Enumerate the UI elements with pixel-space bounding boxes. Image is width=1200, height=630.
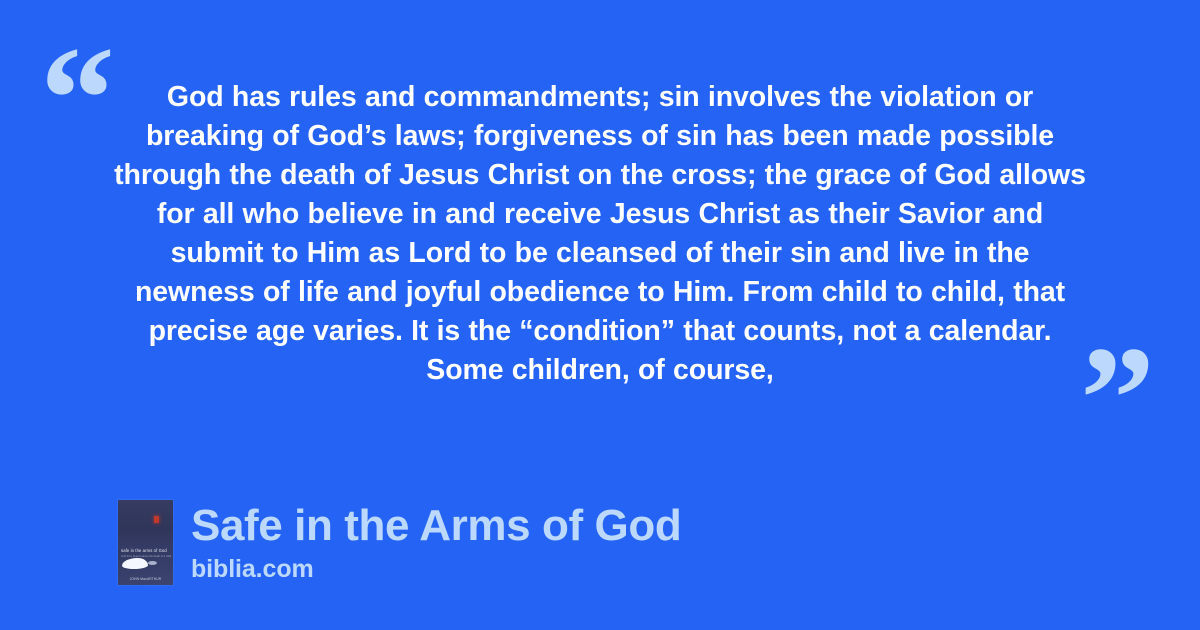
book-title: Safe in the Arms of God	[191, 501, 681, 551]
book-cover-cloud-icon	[122, 558, 148, 569]
quote-block: God has rules and commandments; sin invo…	[110, 78, 1090, 390]
book-cover-red-mark-icon	[154, 516, 159, 523]
book-cover-subtitle: truth from heaven about the death of a c…	[121, 555, 171, 558]
footer-attribution: safe in the arms of God truth from heave…	[118, 500, 681, 585]
book-cover-cloud-small-icon	[148, 561, 157, 565]
book-cover-sky	[118, 500, 173, 549]
quote-text: God has rules and commandments; sin invo…	[110, 78, 1090, 390]
book-cover-title: safe in the arms of God	[121, 548, 171, 553]
closing-quote-icon: ”	[1080, 324, 1155, 474]
book-cover-thumbnail: safe in the arms of God truth from heave…	[118, 500, 173, 585]
book-cover-author: JOHN MacARTHUR	[118, 577, 173, 581]
quote-card: “ God has rules and commandments; sin in…	[0, 0, 1200, 630]
site-name: biblia.com	[191, 554, 681, 584]
opening-quote-icon: “	[40, 24, 115, 174]
footer-text-group: Safe in the Arms of God biblia.com	[191, 500, 681, 584]
